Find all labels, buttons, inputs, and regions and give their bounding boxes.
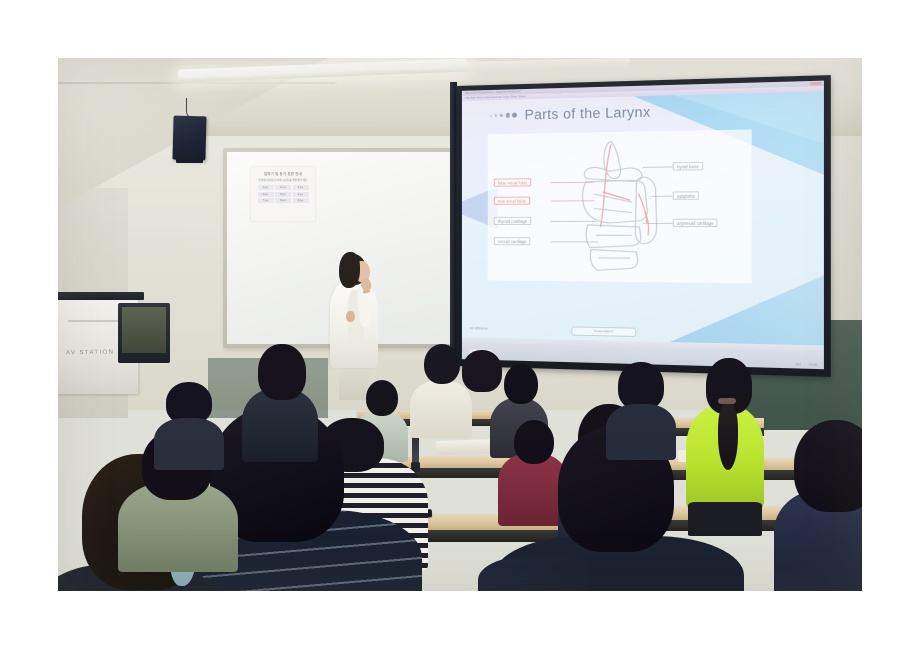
hair-tie <box>718 398 736 404</box>
projection-screen-frame: Microsoft PowerPoint - [Speech Anatomy] … <box>456 75 831 377</box>
larynx-sagittal-diagram-icon <box>488 129 752 283</box>
diagram-label-true-vocal-folds: true vocal folds <box>494 197 530 205</box>
leader-line <box>551 221 597 222</box>
notice-cell: 1교시 <box>258 185 274 190</box>
student-neon-ponytail <box>718 402 738 470</box>
notice-cell: 3교시 <box>293 185 309 190</box>
close-icon[interactable] <box>810 82 821 86</box>
slide-title-text: Parts of the Larynx <box>525 104 651 122</box>
monitor-screen <box>122 307 166 353</box>
whiteboard-notice: 말하기 및 듣기 훈련 안내 수강생 여러분은 아래 시간표를 확인해 주세요 … <box>251 167 315 221</box>
projection-screen: Microsoft PowerPoint - [Speech Anatomy] … <box>462 81 824 370</box>
leader-line <box>643 223 673 224</box>
system-tray: EN 14:48 <box>796 362 817 367</box>
diagram-label-false-vocal-folds: false vocal folds <box>494 178 532 186</box>
notice-cell: 2교시 <box>275 185 291 190</box>
slide-canvas: Parts of the Larynx <box>462 91 824 345</box>
classroom-photo: 말하기 및 듣기 훈련 안내 수강생 여러분은 아래 시간표를 확인해 주세요 … <box>58 58 862 591</box>
instructor-hair-front <box>339 252 360 288</box>
diagram-label-epiglottis: epiglottis <box>673 191 699 200</box>
notice-cell: 6교시 <box>293 192 309 197</box>
paper-stack <box>436 439 496 455</box>
notice-cell: 9교시 <box>293 198 309 203</box>
speaker-bracket <box>176 158 203 163</box>
notice-cell: 5교시 <box>275 192 291 197</box>
student-neon-lower <box>688 502 762 536</box>
podium-label: AV STATION <box>66 350 114 357</box>
notice-cell: 4교시 <box>258 192 274 197</box>
slide-content-panel: false vocal folds true vocal folds thyro… <box>488 129 752 283</box>
slide-title: Parts of the Larynx <box>490 104 651 123</box>
tray-language[interactable]: EN <box>796 362 801 366</box>
slide-nav-control[interactable]: Presentation1 <box>571 326 636 337</box>
podium-monitor <box>118 303 170 363</box>
screenshot-root: 말하기 및 듣기 훈련 안내 수강생 여러분은 아래 시간표를 확인해 주세요 … <box>0 0 920 650</box>
bullet-dots-icon <box>490 112 518 118</box>
notice-grid: 1교시 2교시 3교시 4교시 5교시 6교시 7교시 8교시 9교시 <box>254 185 312 203</box>
instructor-hand-lower <box>346 311 355 322</box>
podium-panel-seam <box>68 320 124 322</box>
student-front-center-shoulder <box>478 556 588 591</box>
notice-cell: 7교시 <box>258 198 274 203</box>
diagram-label-hyoid-bone: hyoid bone <box>673 162 703 171</box>
diagram-label-arytenoid-cartilage: arytenoid cartilage <box>673 219 718 227</box>
notice-subtitle: 수강생 여러분은 아래 시간표를 확인해 주세요 <box>254 178 312 182</box>
wall-speaker-icon <box>172 116 206 161</box>
notice-title: 말하기 및 듣기 훈련 안내 <box>254 171 312 176</box>
podium-top-edge <box>58 292 144 300</box>
tray-clock[interactable]: 14:48 <box>809 362 818 367</box>
notice-cell: 8교시 <box>275 198 291 203</box>
diagram-label-cricoid-cartilage: cricoid cartilage <box>494 237 531 245</box>
diagram-label-thyroid-cartilage: thyroid cartilage <box>494 217 531 225</box>
